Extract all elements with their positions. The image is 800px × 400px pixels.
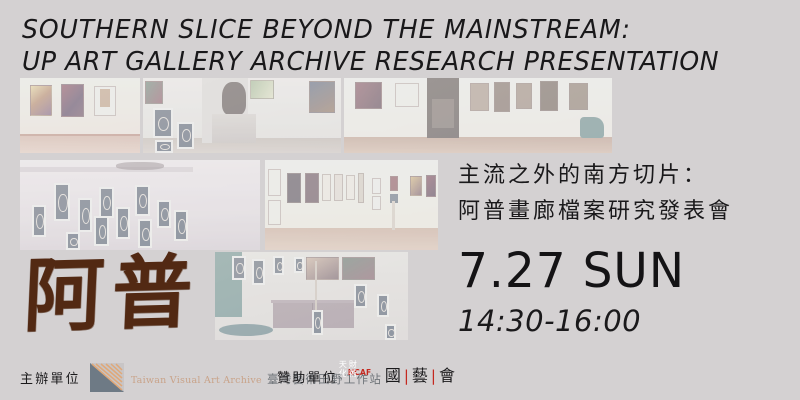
photo-veil [265,160,438,250]
photo-veil [143,78,341,153]
collage-photo-sideboard-room [215,252,408,340]
poster-footer: 主辦單位 Taiwan Visual Art Archiv [0,352,800,400]
poster-canvas: SOUTHERN SLICE BEYOND THE MAINSTREAM: UP… [0,0,800,400]
organizer-label: 主辦單位 [20,368,81,387]
sponsor-label: 贊助單位 [277,367,338,386]
photo-veil [215,252,408,340]
poster-headline: SOUTHERN SLICE BEYOND THE MAINSTREAM: UP… [22,14,792,78]
tvaa-name-english: Taiwan Visual Art Archive [131,375,262,386]
photo-veil [20,78,140,153]
event-info-block: 主流之外的南方切片： 阿普畫廊檔案研究發表會 7.27 SUN 14:30-16… [458,158,788,340]
ncaf-name-chinese: 國 | 藝 | 會 [385,367,455,385]
event-date: 7.27 SUN [458,242,781,300]
chinese-title-line-1: 主流之外的南方切片： [458,158,788,194]
ncaf-seal-icon: 財 天 術 化 NCAF [348,360,378,392]
brush-logo-text: 阿普 [22,245,206,342]
ncaf-char-1: 國 [385,367,401,385]
collage-photo-scroll-installation [20,160,260,250]
tvaa-fan-logo-icon [90,363,124,392]
collage-photo-sculpture-room [143,78,341,153]
ncaf-char-3: 會 [439,367,455,385]
photo-veil [20,160,260,250]
headline-line-2: UP ART GALLERY ARCHIVE RESEARCH PRESENTA… [22,46,780,78]
event-time: 14:30-16:00 [458,302,788,340]
up-gallery-brush-logo: 阿普 [24,250,204,342]
headline-line-1: SOUTHERN SLICE BEYOND THE MAINSTREAM: [22,14,780,46]
chinese-title-line-2: 阿普畫廊檔案研究發表會 [458,194,788,230]
collage-photo-gallery-wall-prints [20,78,140,153]
collage-photo-framed-works-wall [265,160,438,250]
ncaf-separator-1: | [404,367,409,385]
sponsor-group: 贊助單位 財 天 術 化 NCAF 國 | 藝 | 會 [277,360,455,392]
photo-veil [344,78,612,153]
collage-photo-wide-hall [344,78,612,153]
ncaf-char-2: 藝 [412,367,428,385]
ncaf-separator-2: | [431,367,436,385]
